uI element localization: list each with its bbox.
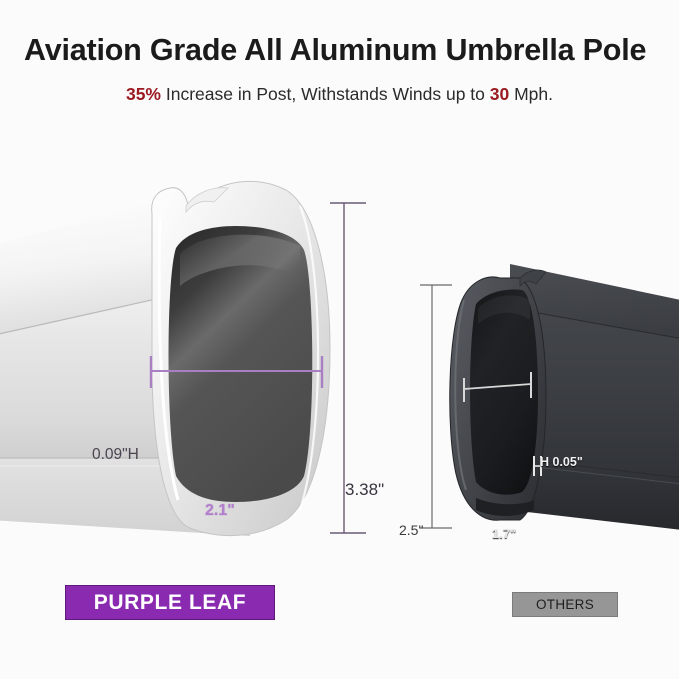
infographic-root: Aviation Grade All Aluminum Umbrella Pol… (0, 0, 679, 679)
percent-increase-value: 35% (126, 84, 161, 104)
brand-badge-others: OTHERS (512, 592, 618, 617)
left-width-label: 2.1" (205, 502, 235, 520)
left-wall-thickness-label: 0.09"H (92, 446, 139, 464)
product-comparison-area: 0.09"H 2.1" 3.38" H 0.05" 1.7" 2.5" (0, 128, 679, 568)
right-width-label: 1.7" (492, 526, 516, 541)
page-title: Aviation Grade All Aluminum Umbrella Pol… (24, 33, 664, 68)
right-wall-thickness-label: H 0.05" (540, 455, 583, 469)
right-product-pole (450, 264, 679, 532)
subtitle-middle-text: Increase in Post, Withstands Winds up to (161, 84, 490, 104)
wind-speed-value: 30 (490, 84, 509, 104)
product-illustrations (0, 128, 679, 568)
brand-badge-purple-leaf: PURPLE LEAF (65, 585, 275, 620)
left-product-pole (0, 181, 330, 536)
right-height-label: 2.5" (399, 522, 423, 538)
page-subtitle: 35% Increase in Post, Withstands Winds u… (0, 84, 679, 105)
left-height-label: 3.38" (345, 480, 384, 500)
subtitle-unit-text: Mph. (509, 84, 553, 104)
